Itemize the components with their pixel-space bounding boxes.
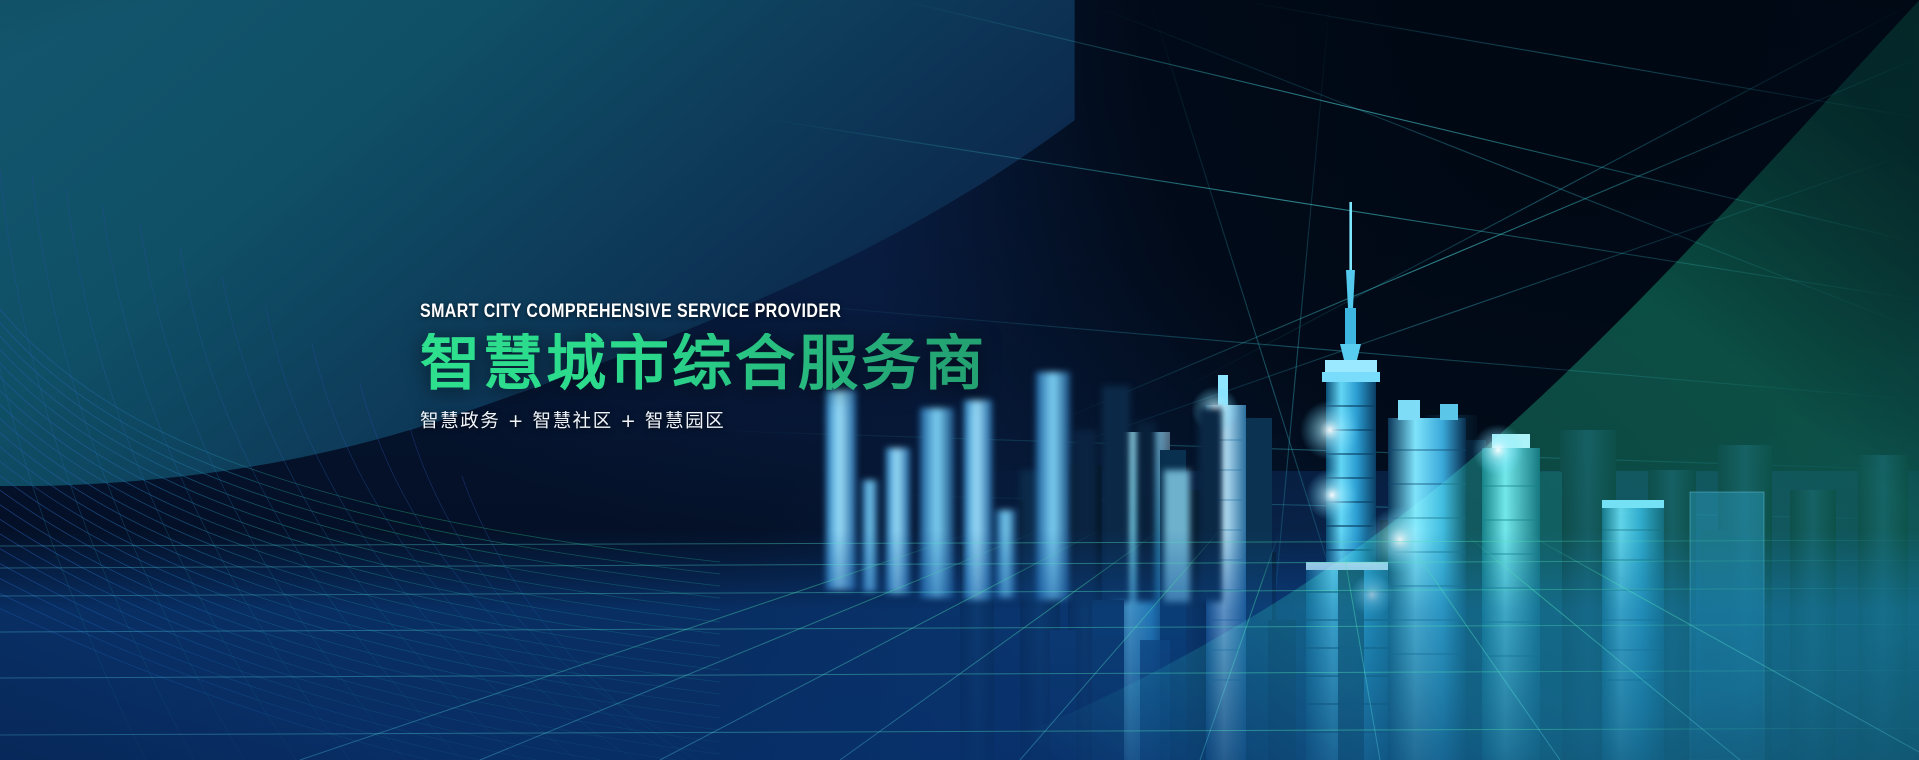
hero-copy-block: SMART CITY COMPREHENSIVE SERVICE PROVIDE… [420, 300, 1180, 433]
eyebrow-tagline: SMART CITY COMPREHENSIVE SERVICE PROVIDE… [420, 300, 1043, 323]
page-title: 智慧城市综合服务商 [420, 333, 1180, 395]
smart-city-hero-banner: SMART CITY COMPREHENSIVE SERVICE PROVIDE… [0, 0, 1919, 760]
subtitle-services: 智慧政务 + 智慧社区 + 智慧园区 [420, 407, 1180, 433]
